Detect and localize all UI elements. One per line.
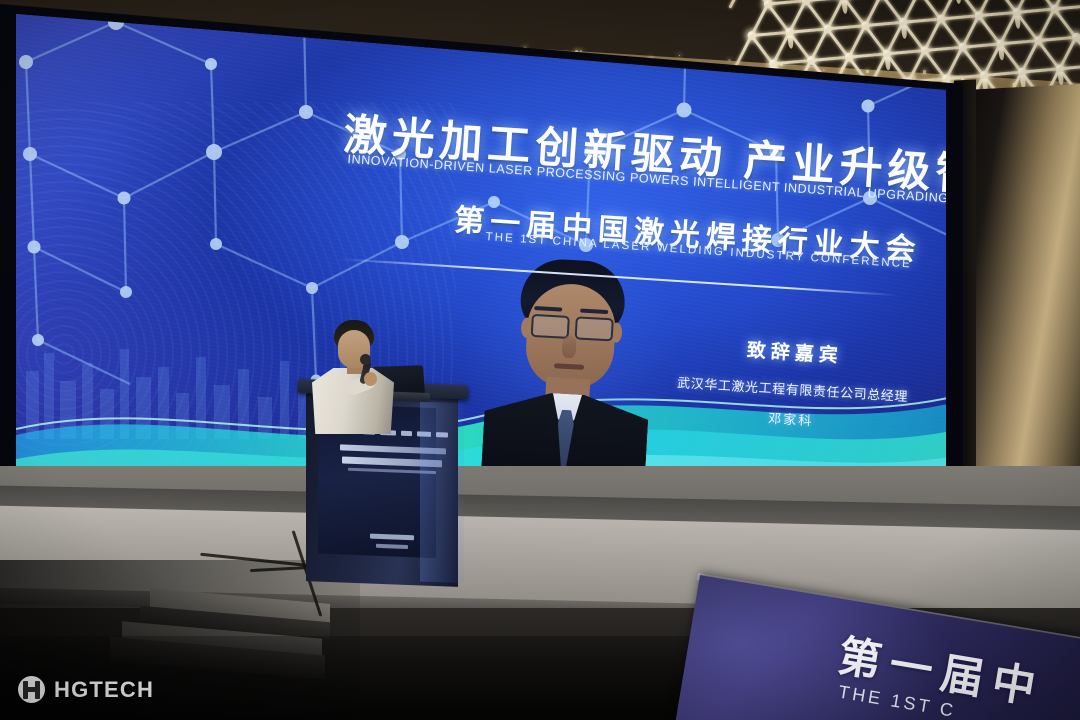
hgtech-wordmark: HGTECH [54, 677, 154, 703]
podium-footer-line-2 [376, 544, 408, 549]
microphone-head [360, 354, 371, 365]
speaker-info-panel: 致辞嘉宾 武汉华工激光工程有限责任公司总经理 邓家科 [656, 330, 931, 436]
speaker-shirt [312, 368, 394, 434]
speaker-hand [364, 372, 377, 386]
speaker-person [306, 320, 398, 430]
podium-footer-line-1 [370, 534, 414, 541]
led-screen: 激光加工创新驱动 产业升级智领未来 INNOVATION-DRIVEN LASE… [16, 12, 961, 497]
conference-photo-scene: 激光加工创新驱动 产业升级智领未来 INNOVATION-DRIVEN LASE… [0, 0, 1080, 720]
led-screen-frame: 激光加工创新驱动 产业升级智领未来 INNOVATION-DRIVEN LASE… [0, 0, 980, 520]
hgtech-logo-icon [18, 676, 45, 703]
hgtech-watermark: HGTECH [18, 676, 154, 703]
speaker-organization: 武汉华工激光工程有限责任公司总经理 [657, 371, 928, 406]
